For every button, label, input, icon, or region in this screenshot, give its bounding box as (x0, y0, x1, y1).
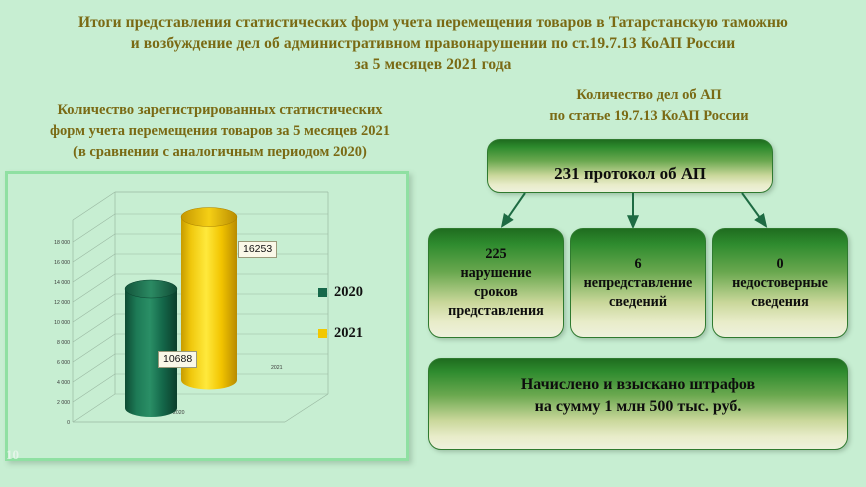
title-line-1: Итоги представления статистических форм … (0, 12, 866, 33)
inaccurate-info-box: 0 недостоверные сведения (712, 228, 848, 338)
left-heading-line-1: Количество зарегистрированных статистиче… (0, 100, 440, 121)
violation-deadlines-count: 225 (429, 245, 563, 264)
left-heading-line-3: (в сравнении с аналогичным периодом 2020… (0, 142, 440, 163)
title-line-3: за 5 месяцев 2021 года (0, 54, 866, 75)
right-section-heading: Количество дел об АП по статье 19.7.13 К… (432, 85, 866, 127)
title-line-2: и возбуждение дел об административном пр… (0, 33, 866, 54)
fines-line-1: Начислено и взыскано штрафов (429, 374, 847, 396)
svg-text:4 000: 4 000 (57, 380, 70, 386)
violation-deadlines-box: 225 нарушение сроков представления (428, 228, 564, 338)
svg-text:12 000: 12 000 (54, 300, 70, 306)
svg-text:0: 0 (67, 420, 70, 426)
violation-deadlines-line-1: нарушение (429, 264, 563, 283)
arrow-right (742, 193, 763, 222)
page-title: Итоги представления статистических форм … (0, 12, 866, 75)
inaccurate-info-line-1: недостоверные (713, 274, 847, 293)
non-submission-line-1: непредставление (571, 274, 705, 293)
chart-svg: 0 2 000 4 000 6 000 8 000 10 000 12 000 … (53, 184, 353, 434)
legend-item-2021: 2021 (318, 325, 398, 342)
total-protocols-box: 231 протокол об АП (487, 139, 773, 193)
non-submission-box: 6 непредставление сведений (570, 228, 706, 338)
violation-deadlines-line-3: представления (429, 302, 563, 321)
bar-2020 (125, 280, 177, 417)
chart-legend: 2020 2021 (318, 284, 398, 366)
right-heading-line-1: Количество дел об АП (432, 85, 866, 106)
legend-swatch-2020 (318, 288, 327, 297)
legend-item-2020: 2020 (318, 284, 398, 301)
non-submission-line-2: сведений (571, 293, 705, 312)
svg-text:8 000: 8 000 (57, 340, 70, 346)
svg-text:16 000: 16 000 (54, 260, 70, 266)
fines-box: Начислено и взыскано штрафов на сумму 1 … (428, 358, 848, 450)
total-protocols-text: 231 протокол об АП (488, 148, 772, 184)
right-heading-line-2: по статье 19.7.13 КоАП России (432, 106, 866, 127)
slide: Итоги представления статистических форм … (0, 0, 866, 487)
inaccurate-info-count: 0 (713, 255, 847, 274)
data-label-2021: 16253 (238, 241, 277, 258)
legend-label-2021: 2021 (334, 325, 363, 342)
data-label-2020: 10688 (158, 351, 197, 368)
svg-text:18 000: 18 000 (54, 240, 70, 246)
chart-panel: 0 2 000 4 000 6 000 8 000 10 000 12 000 … (5, 171, 409, 461)
non-submission-count: 6 (571, 255, 705, 274)
svg-text:14 000: 14 000 (54, 280, 70, 286)
svg-text:2021: 2021 (271, 365, 283, 371)
inaccurate-info-line-2: сведения (713, 293, 847, 312)
bar-chart-3d: 0 2 000 4 000 6 000 8 000 10 000 12 000 … (53, 184, 353, 434)
left-heading-line-2: форм учета перемещения товаров за 5 меся… (0, 121, 440, 142)
legend-swatch-2021 (318, 329, 327, 338)
chart-y-tick-labels: 0 2 000 4 000 6 000 8 000 10 000 12 000 … (54, 240, 70, 426)
legend-label-2020: 2020 (334, 284, 363, 301)
left-section-heading: Количество зарегистрированных статистиче… (0, 100, 440, 163)
page-number: 10 (6, 447, 19, 463)
svg-text:2 000: 2 000 (57, 400, 70, 406)
svg-text:10 000: 10 000 (54, 320, 70, 326)
fines-line-2: на сумму 1 млн 500 тыс. руб. (429, 396, 847, 418)
arrow-left (505, 193, 525, 222)
svg-text:6 000: 6 000 (57, 360, 70, 366)
violation-deadlines-line-2: сроков (429, 283, 563, 302)
chart-depth-lines (73, 214, 115, 422)
